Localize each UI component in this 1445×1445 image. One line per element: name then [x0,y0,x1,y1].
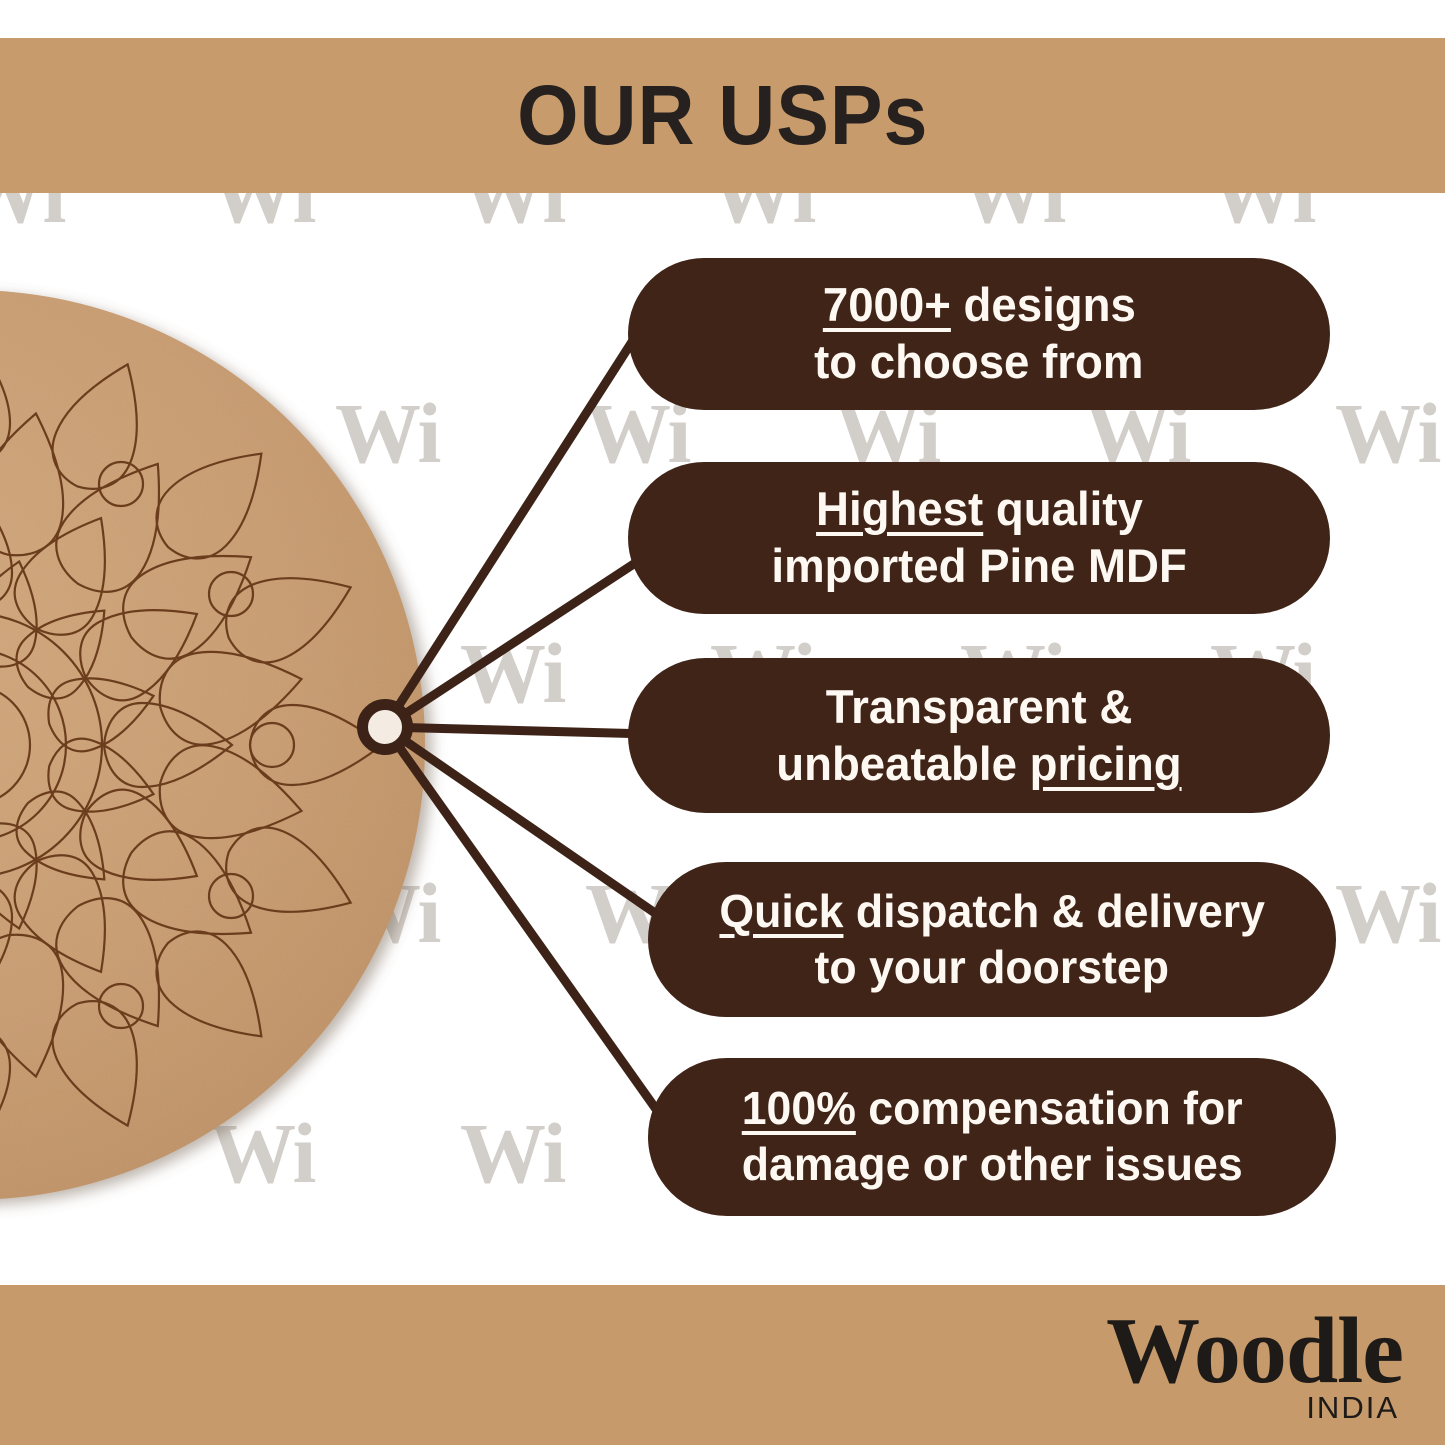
usp-line-2: damage or other issues [742,1137,1243,1193]
infographic-canvas: WiWiWiWiWiWiWiWiWiWiWiWiWiWiWiWiWiWiWiWi… [0,0,1445,1445]
usp-line-1: Quick dispatch & delivery [719,884,1265,940]
watermark-wi: Wi [460,630,564,716]
usp-line-1: Highest quality [816,481,1143,538]
usp-line-1: 100% compensation for [742,1081,1243,1137]
usp-line-2: to your doorstep [815,940,1169,996]
footer-band: Woodle INDIA [0,1285,1445,1445]
usp-line-1: 7000+ designs [822,277,1135,334]
usp-pill-pricing[interactable]: Transparent & unbeatable pricing [628,658,1330,813]
usp-pill-quality[interactable]: Highest quality imported Pine MDF [628,462,1330,614]
watermark-wi: Wi [460,1110,564,1196]
watermark-wi: Wi [1335,390,1439,476]
usp-pill-compensation[interactable]: 100% compensation for damage or other is… [648,1058,1336,1216]
hub-node [357,699,413,755]
usp-pill-designs[interactable]: 7000+ designs to choose from [628,258,1330,410]
usp-line-2: imported Pine MDF [771,538,1186,595]
brand-name: Woodle [1106,1307,1403,1396]
watermark-wi: Wi [1335,870,1439,956]
usp-line-2: unbeatable pricing [776,736,1181,793]
usp-line-2: to choose from [814,334,1143,391]
usp-line-1: Transparent & [826,679,1133,736]
header-band: OUR USPs [0,38,1445,193]
brand-logo: Woodle INDIA [1106,1307,1403,1426]
usp-pill-dispatch[interactable]: Quick dispatch & delivery to your doorst… [648,862,1336,1017]
page-title: OUR USPs [517,67,928,164]
